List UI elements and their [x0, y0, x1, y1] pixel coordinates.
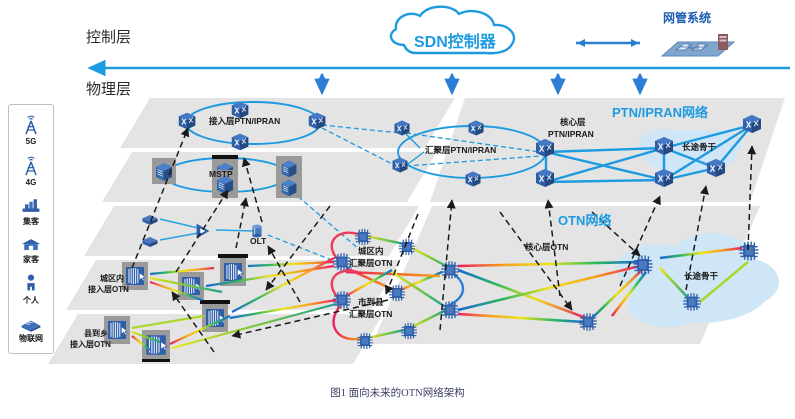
- antenna-tower-icon: [21, 114, 41, 136]
- legend-item-person[interactable]: 个人: [23, 274, 39, 306]
- nms-icon-wrap[interactable]: [656, 30, 738, 64]
- mstp-shelf-top-2: [212, 155, 238, 159]
- otn-agg-city-label-2: 汇聚层OTN: [349, 310, 392, 319]
- legend-item-4g[interactable]: 4G: [21, 155, 41, 187]
- bus-down-arrows: [322, 74, 640, 93]
- otn-access-urban-label-2: 接入层OTN: [88, 286, 129, 294]
- legend-label-enterprise: 集客: [23, 216, 39, 227]
- legend-label-5g: 5G: [26, 137, 37, 146]
- sdn-controller-label[interactable]: SDN控制器: [414, 35, 496, 52]
- otn-access-urban-label-1: 城区内: [100, 275, 124, 283]
- node-otn-access-county-2: [206, 309, 225, 327]
- otn-agg-city-label-1: 市到县: [358, 298, 384, 307]
- control-layer-label: 控制层: [86, 30, 131, 46]
- legend-item-5g[interactable]: 5G: [21, 114, 41, 146]
- ptn-access-ring-label: 接入层PTN/IPRAN: [209, 117, 280, 126]
- node-otn-access-urban-3: [224, 263, 243, 281]
- node-otn-access-urban-1: [126, 267, 145, 285]
- sdn-nms-link-arrow: [576, 39, 640, 47]
- enterprise-building-icon: [20, 197, 42, 215]
- otn-agg-urban-label-1: 城区内: [358, 247, 384, 256]
- ptn-core-label-line2: PTN/IPRAN: [548, 130, 594, 139]
- legend-item-home[interactable]: 家客: [20, 237, 42, 265]
- otn-agg-urban-label-2: 汇聚层OTN: [349, 259, 392, 268]
- legend-item-enterprise[interactable]: 集客: [20, 197, 42, 227]
- otn-backbone-label: 长途骨干: [684, 272, 718, 281]
- legend-item-iot[interactable]: 物联网: [19, 316, 43, 344]
- legend-label-person: 个人: [23, 295, 39, 306]
- bus-up-arrowheads: [318, 73, 644, 80]
- otn-network-title: OTN网络: [558, 214, 611, 228]
- ptn-network-title: PTN/IPRAN网络: [612, 106, 708, 120]
- olt-label: OLT: [250, 237, 266, 246]
- figure-caption: 图1 面向未来的OTN网络架构: [0, 385, 795, 400]
- ptn-core-label-line1: 核心层: [560, 118, 586, 127]
- ptn-backbone-label: 长途骨干: [682, 143, 716, 152]
- server-rack-icon: [656, 30, 738, 64]
- iot-device-icon: [19, 316, 43, 332]
- otn-access-county-label-1: 县到乡: [84, 330, 108, 338]
- antenna-tower-icon: [21, 155, 41, 177]
- legend-label-iot: 物联网: [19, 333, 43, 344]
- physical-layer-label: 物理层: [86, 82, 131, 98]
- legend-label-4g: 4G: [26, 178, 37, 187]
- ptn-aggregation-ring-label: 汇聚层PTN/IPRAN: [425, 146, 496, 155]
- nms-label[interactable]: 网管系统: [663, 12, 711, 25]
- client-access-legend[interactable]: 5G 4G 集客 家客: [8, 104, 54, 354]
- node-otn-access-county-1: [108, 321, 127, 339]
- legend-label-home: 家客: [23, 254, 39, 265]
- mstp-ring-label: MSTP: [209, 170, 233, 179]
- diagram-canvas: 5G 4G 集客 家客: [0, 0, 795, 419]
- person-icon: [24, 274, 38, 294]
- home-icon: [20, 237, 42, 253]
- otn-access-county-label-2: 接入层OTN: [70, 341, 111, 349]
- otn-core-label: 核心层OTN: [525, 243, 568, 252]
